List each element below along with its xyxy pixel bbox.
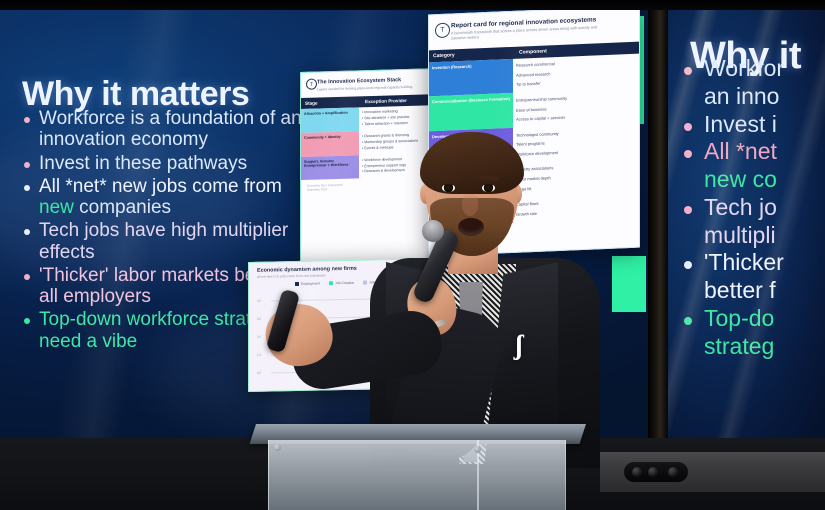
lectern-bolt-right — [474, 446, 481, 453]
y-axis-tick: 2.0 — [257, 335, 261, 339]
bullet-run: Invest i — [704, 111, 777, 137]
bullet-item: Invest i — [678, 112, 825, 138]
bullet-item: multipli — [678, 223, 825, 249]
bullet-dot-icon — [684, 234, 692, 242]
speaker-eye-right — [482, 184, 495, 192]
speaker-hair — [420, 132, 524, 194]
bullet-item: new co — [678, 167, 825, 193]
bullet-text: Invest i — [704, 112, 777, 138]
bullet-dot-icon — [684, 95, 692, 103]
bullet-run: Workforce is a foundation of an innovati… — [39, 108, 302, 150]
speaker-mouth — [458, 218, 484, 236]
bullet-item: 'Thicker — [678, 250, 825, 276]
bullet-text: new co — [704, 167, 777, 193]
speaker-nose — [462, 194, 478, 216]
bullet-item: better f — [678, 278, 825, 304]
bullet-dot-icon — [24, 274, 30, 280]
legend-item: Employment — [295, 282, 320, 287]
bullet-text: Tech jobs have high multiplier effects — [39, 220, 318, 263]
row-category: Commercialization (Business Formation) — [429, 93, 513, 131]
top-bezel-strip — [0, 0, 825, 10]
bullet-dot-icon — [24, 185, 30, 191]
bullet-dot-icon — [684, 289, 692, 297]
y-axis-tick: 0.0 — [257, 371, 261, 375]
bullet-dot-icon — [684, 123, 692, 131]
bullet-dot-icon — [24, 229, 30, 235]
bullet-item: Workforce is a foundation of an innovati… — [18, 108, 318, 151]
bullet-item: Top-do — [678, 306, 825, 332]
y-axis-tick: 4.0 — [257, 299, 261, 303]
bullet-run: Tech jobs have high multiplier effects — [39, 220, 288, 262]
bullet-run: multipli — [704, 222, 776, 248]
bullet-dot-icon — [684, 261, 692, 269]
right-slide-bullet-list: Workforan innoInvest iAll *netnew coTech… — [678, 56, 825, 361]
camera-module — [624, 462, 688, 482]
bullet-run: All *net — [704, 138, 777, 164]
y-axis-tick: 1.0 — [257, 353, 261, 357]
stack-panel-subtitle: Layers needed for thriving place-level r… — [317, 84, 427, 92]
bullet-text: All *net* new jobs come from new compani… — [39, 176, 318, 219]
report-org-logo-icon: T — [435, 23, 450, 39]
bullet-dot-icon — [684, 345, 692, 353]
presentation-photo: Why it matters Workforce is a foundation… — [0, 0, 825, 510]
bullet-run: new — [39, 197, 74, 218]
camera-lens-3-icon — [668, 467, 678, 477]
display-bezel-gap — [648, 8, 668, 438]
bullet-item: Tech jobs have high multiplier effects — [18, 220, 318, 263]
bullet-item: an inno — [678, 84, 825, 110]
bullet-run: Tech jo — [704, 194, 777, 220]
bullet-text: better f — [704, 278, 776, 304]
bullet-text: Top-do — [704, 306, 774, 332]
bullet-item: Workfor — [678, 56, 825, 82]
bullet-run: Invest in these pathways — [39, 153, 247, 174]
bullet-dot-icon — [684, 178, 692, 186]
bullet-dot-icon — [24, 162, 30, 168]
row-components: Entrepreneurship communityEase of busine… — [513, 88, 639, 128]
bullet-run: an inno — [704, 83, 779, 109]
bullet-item: All *net* new jobs come from new compani… — [18, 176, 318, 219]
lectern-acrylic-panel — [268, 440, 566, 510]
lectern-bolt-left — [274, 444, 281, 451]
bullet-text: All *net — [704, 139, 777, 165]
y-axis-tick: 3.0 — [257, 317, 261, 321]
hoodie-logo-icon: ʃ — [506, 328, 532, 362]
bullet-run: Workfor — [704, 55, 784, 81]
bullet-run: strateg — [704, 333, 774, 359]
bullet-item: Invest in these pathways — [18, 153, 318, 174]
lectern — [256, 424, 586, 510]
camera-lens-2-icon — [648, 467, 658, 477]
secondary-display: Why it Workforan innoInvest iAll *netnew… — [668, 8, 825, 438]
row-components: Research commercialAdvanced researchTip … — [513, 53, 639, 93]
bullet-text: an inno — [704, 84, 779, 110]
bullet-text: Workforce is a foundation of an innovati… — [39, 108, 318, 151]
bullet-dot-icon — [684, 317, 692, 325]
bullet-run: better f — [704, 277, 776, 303]
speaker: ʃ — [330, 132, 630, 462]
bullet-dot-icon — [684, 67, 692, 75]
bullet-dot-icon — [684, 206, 692, 214]
bullet-item: Tech jo — [678, 195, 825, 221]
bullet-run: Top-do — [704, 305, 774, 331]
bullet-dot-icon — [24, 318, 30, 324]
bullet-run: new co — [704, 166, 777, 192]
bullet-dot-icon — [24, 117, 30, 123]
bullet-text: 'Thicker — [704, 250, 784, 276]
bullet-item: All *net — [678, 139, 825, 165]
bullet-text: multipli — [704, 223, 776, 249]
bullet-dot-icon — [684, 150, 692, 158]
row-category: Invention (Research) — [429, 59, 513, 97]
bullet-text: strateg — [704, 334, 774, 360]
camera-lens-1-icon — [632, 467, 642, 477]
bullet-text: Workfor — [704, 56, 784, 82]
bullet-run: All *net* new jobs come from — [39, 176, 282, 197]
bullet-text: Tech jo — [704, 195, 777, 221]
org-logo-icon: T — [306, 79, 317, 90]
bullet-run: companies — [74, 197, 171, 218]
legend-swatch-icon — [295, 282, 299, 286]
bullet-item: strateg — [678, 334, 825, 360]
row-category: Attraction + Amplification — [301, 107, 359, 132]
speaker-eye-left — [442, 184, 455, 192]
bullet-run: 'Thicker — [704, 249, 784, 275]
legend-label: Employment — [301, 282, 320, 286]
bullet-text: Invest in these pathways — [39, 153, 247, 174]
